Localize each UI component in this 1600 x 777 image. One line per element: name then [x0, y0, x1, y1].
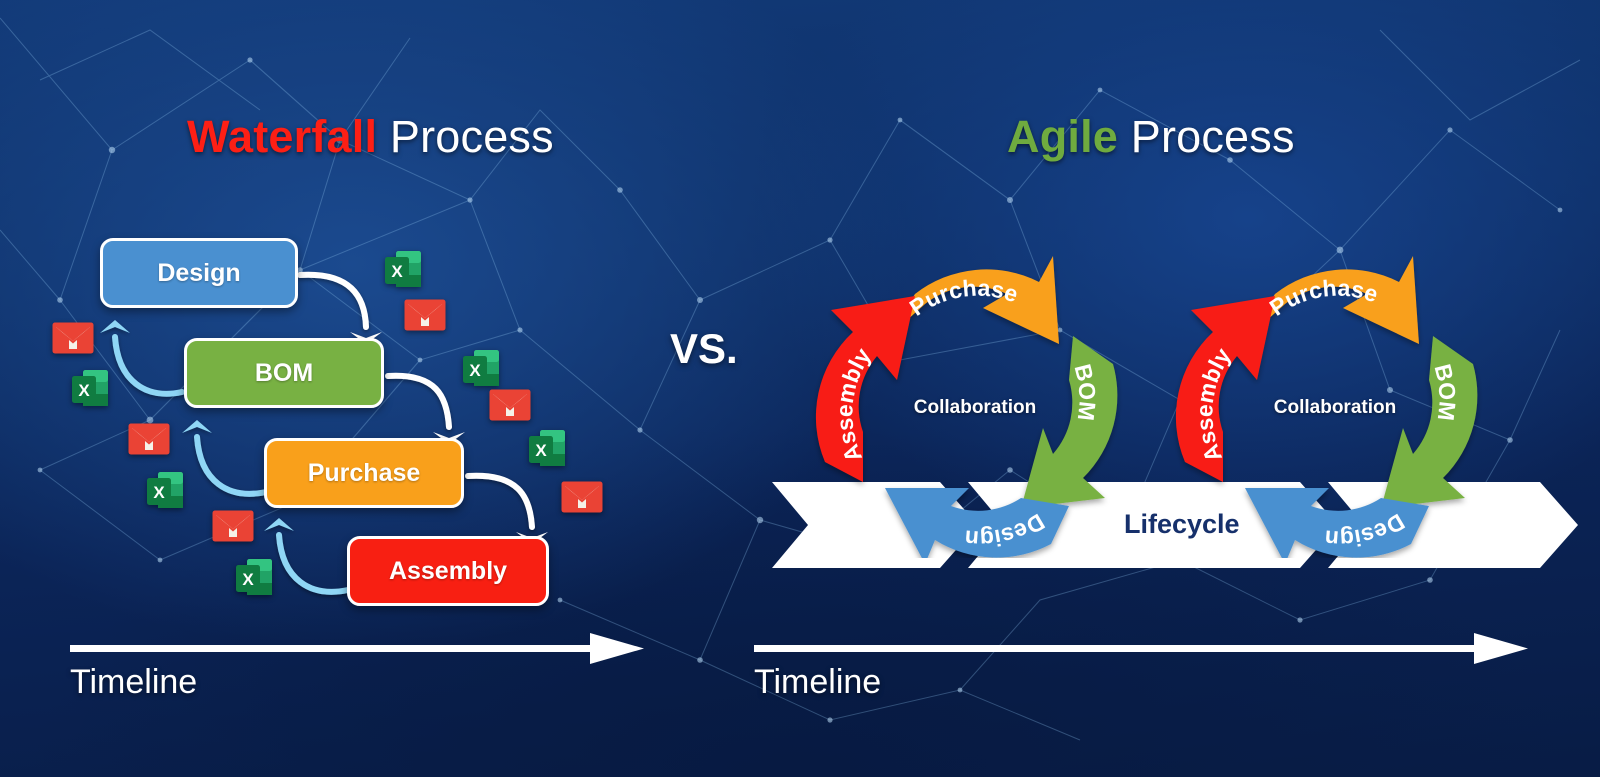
- slide-canvas: Waterfall Process Agile Process VS.: [0, 0, 1600, 777]
- agile-timeline-label: Timeline: [754, 663, 881, 702]
- agile-timeline-line: [754, 645, 1482, 652]
- waterfall-timeline-arrowhead: [590, 633, 644, 664]
- waterfall-timeline-line: [70, 645, 598, 652]
- agile-timeline-arrowhead: [1474, 633, 1528, 664]
- waterfall-timeline-label: Timeline: [70, 663, 197, 702]
- timeline-arrows: [0, 0, 1600, 777]
